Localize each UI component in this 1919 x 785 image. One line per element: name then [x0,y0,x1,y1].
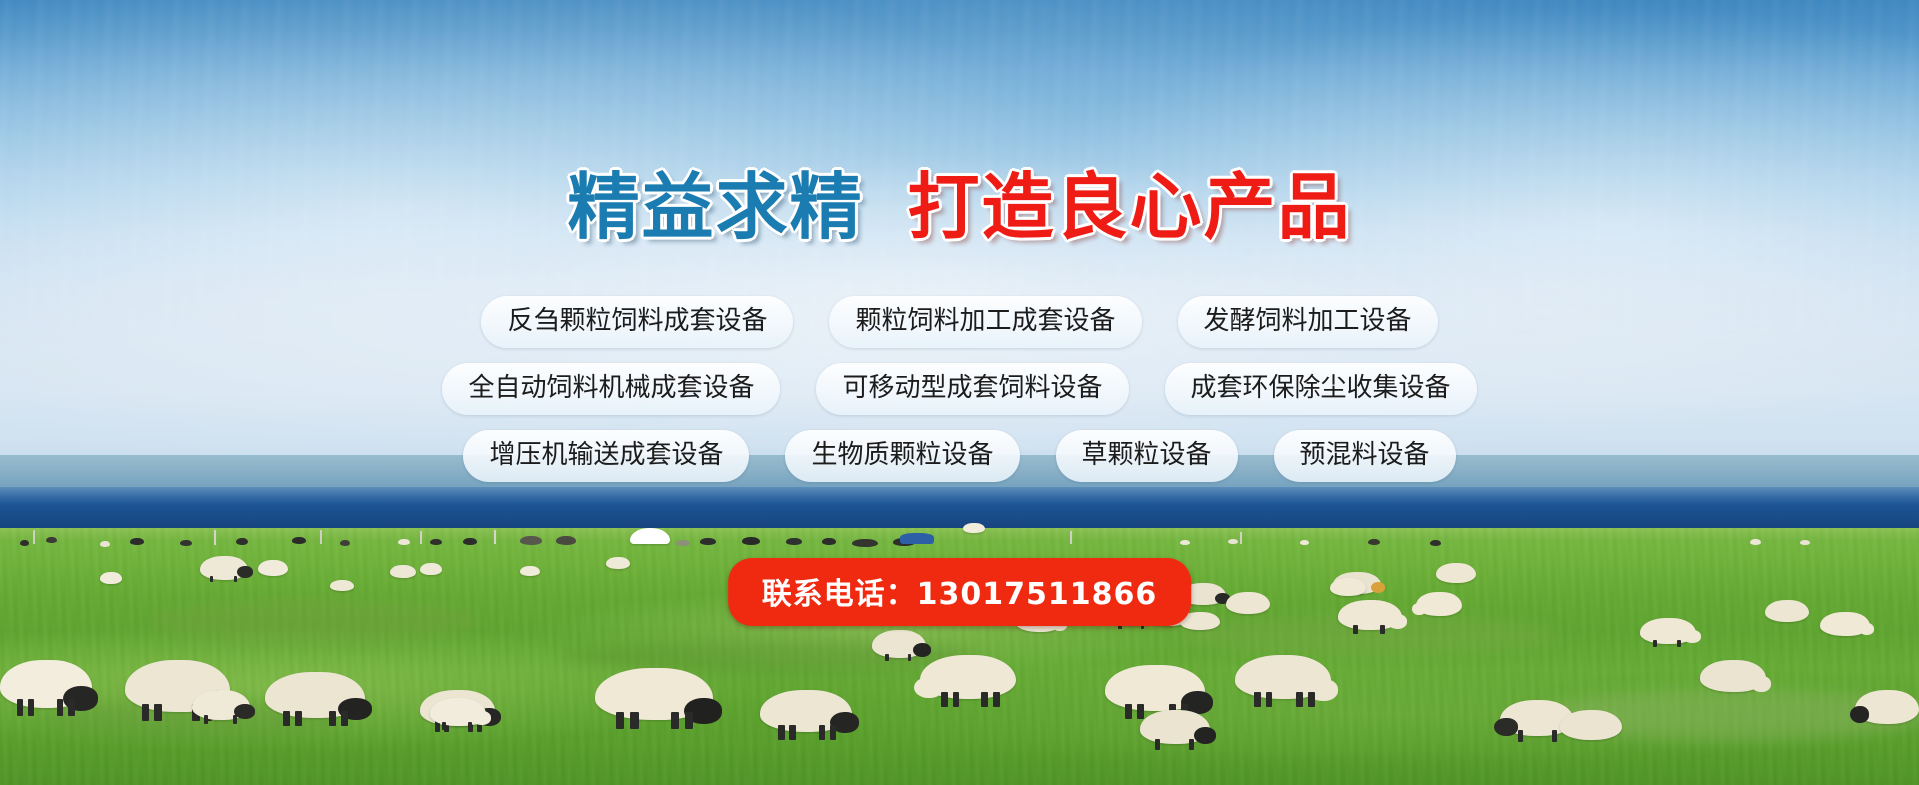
sheep [1235,655,1331,699]
fence-post [1240,532,1242,544]
hero-banner: 精益求精打造良心产品 反刍颗粒饲料成套设备 颗粒饲料加工成套设备 发酵饲料加工设… [0,0,1919,785]
category-pill[interactable]: 反刍颗粒饲料成套设备 [481,296,793,348]
sheep [1338,600,1402,630]
sheep [595,668,713,720]
category-row-3: 增压机输送成套设备 生物质颗粒设备 草颗粒设备 预混料设备 [0,430,1919,482]
sheep [330,580,354,591]
sheep [265,672,365,718]
sheep [1105,665,1205,711]
fence-post [320,530,322,544]
sheep [1140,710,1210,744]
sheep [258,560,288,576]
category-pill[interactable]: 全自动饲料机械成套设备 [442,363,780,415]
sheep [1416,592,1462,616]
fence-post [494,530,496,544]
category-pill[interactable]: 发酵饲料加工设备 [1178,296,1438,348]
headline-blue-text: 精益求精 [567,165,863,249]
sheep [963,523,985,533]
fence-post [214,530,216,545]
category-row-1: 反刍颗粒饲料成套设备 颗粒饲料加工成套设备 发酵饲料加工设备 [0,296,1919,348]
sheep [1700,660,1766,692]
blue-tent [900,533,934,544]
fence-post [420,531,422,544]
sheep [1226,592,1270,614]
sheep-lamb [192,690,250,720]
sheep [1765,600,1809,622]
category-pill[interactable]: 成套环保除尘收集设备 [1165,363,1477,415]
category-pill[interactable]: 可移动型成套饲料设备 [816,363,1128,415]
contact-phone-banner[interactable]: 联系电话：13017511866 [728,558,1192,626]
sheep [1820,612,1870,636]
category-pill[interactable]: 生物质颗粒设备 [785,430,1019,482]
sheep [0,660,92,708]
sheep [872,630,926,658]
sheep [1855,690,1919,724]
sheep [390,565,416,578]
sheep [520,566,540,576]
category-pill-groups: 反刍颗粒饲料成套设备 颗粒饲料加工成套设备 发酵饲料加工设备 全自动饲料机械成套… [0,296,1919,497]
sheep [1560,710,1622,740]
category-pill[interactable]: 预混料设备 [1274,430,1456,482]
sheep [420,563,442,575]
yurt-tent [630,528,670,544]
sheep [606,557,630,569]
category-pill[interactable]: 增压机输送成套设备 [463,430,749,482]
sheep [1330,578,1366,596]
sheep-lamb [430,698,486,726]
sheep [760,690,852,732]
category-row-2: 全自动饲料机械成套设备 可移动型成套饲料设备 成套环保除尘收集设备 [0,363,1919,415]
sheep [100,572,122,584]
fence-post [1070,531,1072,544]
sheep [1436,563,1476,583]
headline: 精益求精打造良心产品 [0,148,1919,253]
headline-red-text: 打造良心产品 [908,165,1352,249]
sheep [200,556,248,580]
category-pill[interactable]: 颗粒饲料加工成套设备 [829,296,1141,348]
sheep [920,655,1016,699]
grass-patch [150,600,480,642]
sheep [1640,618,1696,644]
fence-post [33,530,35,544]
category-pill[interactable]: 草颗粒设备 [1056,430,1238,482]
